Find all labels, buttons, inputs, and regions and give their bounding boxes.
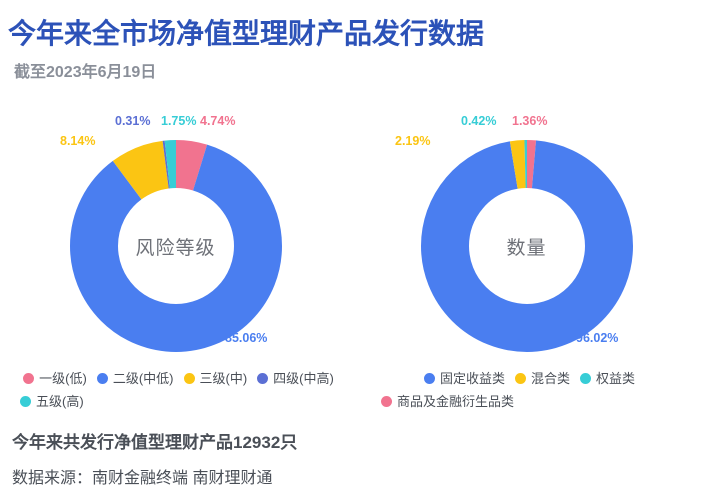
legend-item-label: 商品及金融衍生品类 — [397, 392, 514, 411]
legend-item-level1[interactable]: 一级(低) — [23, 369, 87, 388]
legend-dot-icon — [20, 396, 31, 407]
legend-dot-icon — [580, 373, 591, 384]
legend-item-label: 混合类 — [531, 369, 570, 388]
footer-data-source: 数据来源：南财金融终端 南财理财通 — [12, 464, 272, 488]
donut-product-count-graphic: 数量 — [421, 140, 633, 352]
legends-area: 一级(低) 二级(中低) 三级(中) 四级(中高) 五级(高) 固定收益类 混合… — [0, 366, 702, 424]
donut-slice-level2[interactable] — [94, 164, 258, 328]
legend-product-type: 固定收益类 混合类 权益类 商品及金融衍生品类 — [351, 366, 702, 411]
legend-item-label: 一级(低) — [39, 369, 87, 388]
donut-risk-level-svg — [70, 140, 282, 352]
legend-item-label: 权益类 — [596, 369, 635, 388]
legend-item-level4[interactable]: 四级(中高) — [257, 369, 334, 388]
pct-label-equity: 0.42% — [461, 114, 496, 128]
pct-label-level4: 0.31% — [115, 114, 150, 128]
legend-item-equity[interactable]: 权益类 — [580, 369, 635, 388]
donut-chart-risk-level: 风险等级 8.14% 0.31% 1.75% 4.74% 85.06% — [0, 98, 351, 368]
legend-item-label: 四级(中高) — [273, 369, 334, 388]
pct-label-level3: 8.14% — [60, 134, 95, 148]
legend-item-level5[interactable]: 五级(高) — [6, 392, 351, 411]
donut-chart-product-count: 数量 2.19% 0.42% 1.36% 96.02% — [351, 98, 702, 368]
legend-item-mixed[interactable]: 混合类 — [515, 369, 570, 388]
legend-dot-icon — [515, 373, 526, 384]
legend-item-label: 二级(中低) — [113, 369, 174, 388]
legend-dot-icon — [381, 396, 392, 407]
pct-label-level1: 4.74% — [200, 114, 235, 128]
legend-item-level3[interactable]: 三级(中) — [184, 369, 248, 388]
legend-dot-icon — [257, 373, 268, 384]
legend-item-fixed-income[interactable]: 固定收益类 — [424, 369, 505, 388]
donut-risk-level-segments — [94, 164, 258, 328]
legend-item-label: 固定收益类 — [440, 369, 505, 388]
charts-area: 风险等级 8.14% 0.31% 1.75% 4.74% 85.06% 数量 2… — [0, 98, 702, 368]
legend-dot-icon — [184, 373, 195, 384]
page-title: 今年来全市场净值型理财产品发行数据 — [8, 12, 484, 52]
legend-item-label: 五级(高) — [36, 392, 84, 411]
pct-label-commodity-derivative: 1.36% — [512, 114, 547, 128]
legend-dot-icon — [97, 373, 108, 384]
pct-label-level2: 85.06% — [225, 331, 267, 345]
legend-item-commodity-derivative[interactable]: 商品及金融衍生品类 — [357, 392, 702, 411]
pct-label-level5: 1.75% — [161, 114, 196, 128]
page-subtitle: 截至2023年6月19日 — [14, 58, 156, 82]
legend-item-label: 三级(中) — [200, 369, 248, 388]
pct-label-fixed-income: 96.02% — [576, 331, 618, 345]
donut-product-count-svg — [421, 140, 633, 352]
legend-item-level2[interactable]: 二级(中低) — [97, 369, 174, 388]
donut-product-count-segments — [445, 164, 609, 328]
donut-risk-level-graphic: 风险等级 — [70, 140, 282, 352]
legend-risk-level: 一级(低) 二级(中低) 三级(中) 四级(中高) 五级(高) — [0, 366, 351, 411]
footer-total-issued: 今年来共发行净值型理财产品12932只 — [12, 428, 297, 453]
legend-dot-icon — [23, 373, 34, 384]
legend-dot-icon — [424, 373, 435, 384]
pct-label-mixed: 2.19% — [395, 134, 430, 148]
donut-slice-fixed-income[interactable] — [445, 164, 609, 328]
